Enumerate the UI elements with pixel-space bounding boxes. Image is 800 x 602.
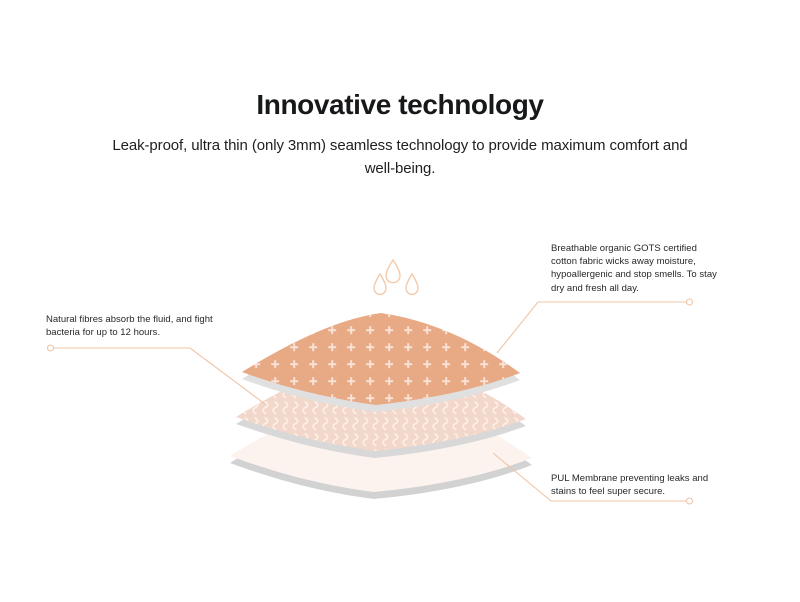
- water-drop-icon: [386, 260, 400, 283]
- callout-breathable-cotton: Breathable organic GOTS certified cotton…: [551, 242, 719, 295]
- callout-connector-natural-fibres: [48, 345, 266, 404]
- callout-pul-membrane: PUL Membrane preventing leaks and stains…: [551, 472, 723, 498]
- callout-natural-fibres: Natural fibres absorb the fluid, and fig…: [46, 313, 226, 339]
- water-drop-icon-group: [374, 260, 418, 294]
- callout-connector-breathable-cotton: [497, 299, 693, 353]
- exploded-fabric-layers-diagram: [0, 0, 800, 602]
- innovative-technology-section: Innovative technology Leak-proof, ultra …: [0, 0, 800, 602]
- water-drop-icon: [406, 274, 418, 294]
- water-drop-icon: [374, 274, 386, 294]
